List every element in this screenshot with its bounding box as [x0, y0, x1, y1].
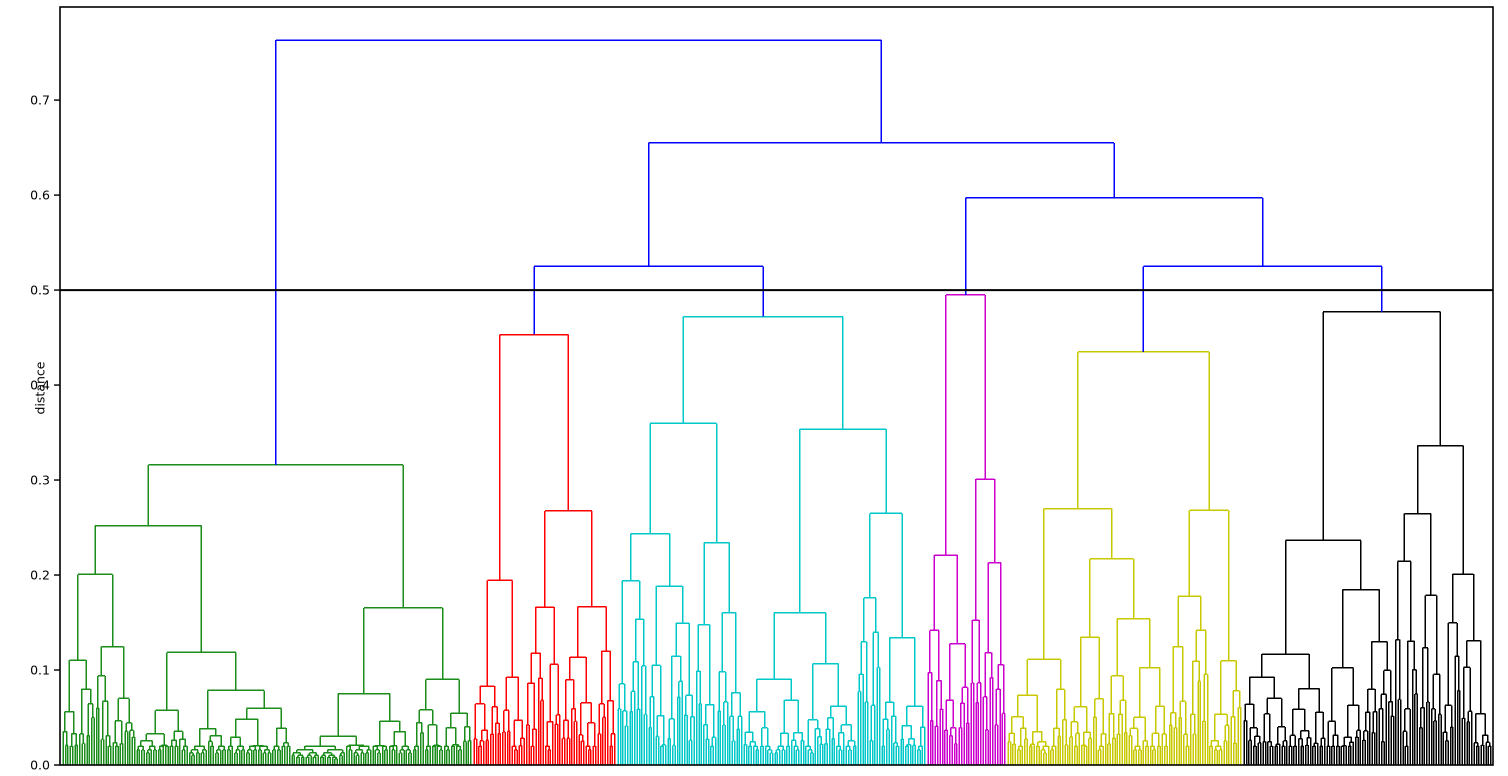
- y-tick-label: 0.2: [30, 568, 50, 583]
- dendrogram-figure: 0.00.10.20.30.40.50.60.7 distance: [0, 0, 1508, 776]
- y-tick-label: 0.7: [30, 93, 50, 108]
- figure-background: [0, 0, 1508, 776]
- y-tick-label: 0.6: [30, 188, 50, 203]
- y-tick-label: 0.0: [30, 758, 50, 773]
- y-tick-label: 0.5: [30, 283, 50, 298]
- y-axis-label: distance: [33, 328, 48, 448]
- y-tick-label: 0.3: [30, 473, 50, 488]
- dendrogram-canvas: 0.00.10.20.30.40.50.60.7: [0, 0, 1508, 776]
- y-tick-label: 0.1: [30, 663, 50, 678]
